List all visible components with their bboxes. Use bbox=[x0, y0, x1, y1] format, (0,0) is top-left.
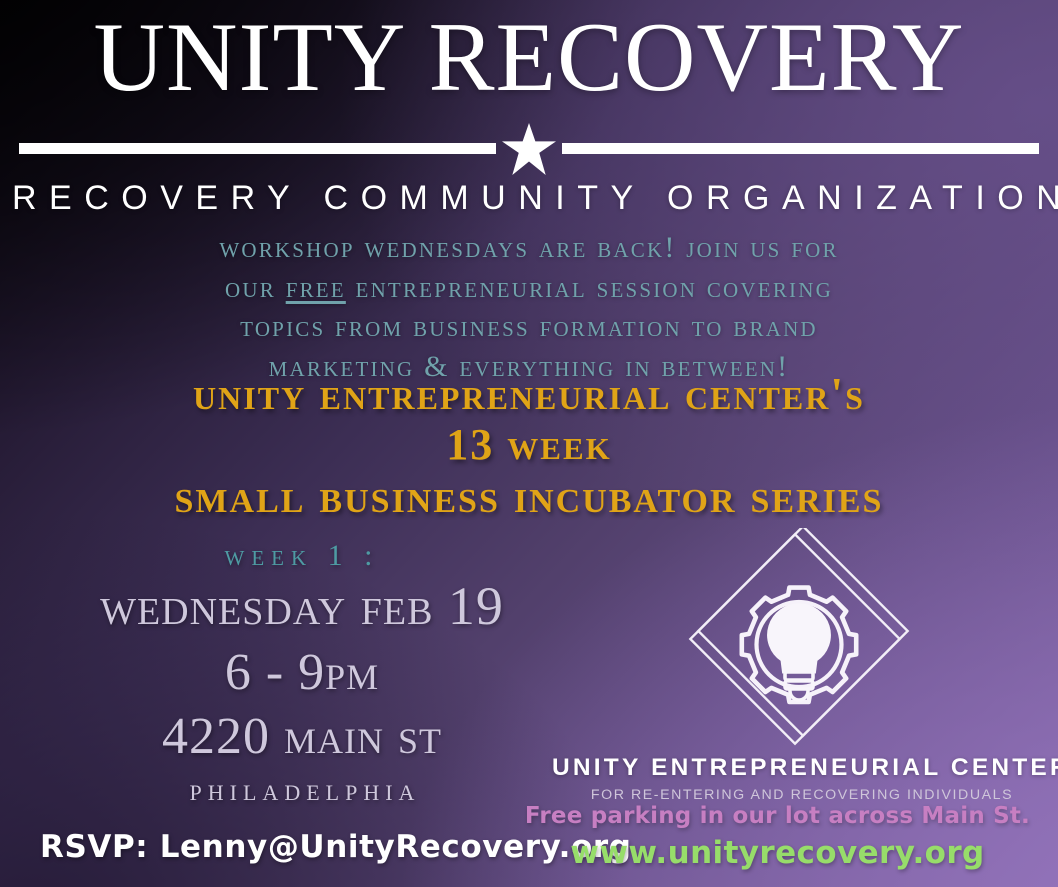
center-logo-block: UNITY ENTREPRENEURIAL CENTER FOR RE-ENTE… bbox=[552, 528, 1052, 803]
headline-line-1: Unity Entrepreneurial Center's bbox=[0, 368, 1058, 420]
masthead: UNITY RECOVERY RECOVERY COMMUNITY ORGANI… bbox=[0, 0, 1058, 218]
event-details: Week 1 : Wednesday Feb 19 6 - 9pm 4220 M… bbox=[42, 538, 562, 810]
event-address: 4220 Main St bbox=[42, 705, 562, 769]
website-link[interactable]: www.unityrecovery.org bbox=[525, 833, 1030, 873]
parking-note: Free parking in our lot across Main St. bbox=[525, 802, 1030, 831]
intro-line-1: Workshop Wednesdays are back! Join us fo… bbox=[0, 228, 1058, 268]
intro-line-2-before: our bbox=[225, 271, 286, 304]
event-date: Wednesday Feb 19 bbox=[42, 574, 562, 640]
divider-bar-left bbox=[19, 143, 496, 154]
footer-right-block: Free parking in our lot across Main St. … bbox=[525, 802, 1030, 873]
intro-free-emphasis: FREE bbox=[286, 271, 346, 304]
headline-line-3: Small Business Incubator series bbox=[0, 470, 1058, 524]
logo-tagline: FOR RE-ENTERING AND RECOVERING INDIVIDUA… bbox=[552, 787, 1052, 803]
flyer-canvas: UNITY RECOVERY RECOVERY COMMUNITY ORGANI… bbox=[0, 0, 1058, 887]
headline-line-2: 13 week bbox=[0, 420, 1058, 470]
star-icon bbox=[502, 123, 556, 175]
page-title: UNITY RECOVERY bbox=[0, 8, 1058, 109]
org-subtitle: RECOVERY COMMUNITY ORGANIZATION bbox=[0, 179, 1058, 218]
program-headline: Unity Entrepreneurial Center's 13 week S… bbox=[0, 368, 1058, 523]
intro-paragraph: Workshop Wednesdays are back! Join us fo… bbox=[0, 228, 1058, 386]
intro-line-3: topics from business formation to brand bbox=[0, 307, 1058, 347]
divider-bar-right bbox=[562, 143, 1039, 154]
event-city: Philadelphia bbox=[42, 770, 562, 810]
gear-lightbulb-diamond-logo-icon bbox=[682, 528, 922, 750]
week-label: Week 1 : bbox=[42, 538, 562, 574]
star-divider bbox=[19, 123, 1039, 175]
event-time: 6 - 9pm bbox=[42, 640, 562, 706]
intro-line-2: our FREE entrepreneurial session coverin… bbox=[0, 268, 1058, 308]
intro-line-2-after: entrepreneurial session covering bbox=[346, 271, 833, 304]
logo-name: UNITY ENTREPRENEURIAL CENTER bbox=[552, 754, 1052, 782]
